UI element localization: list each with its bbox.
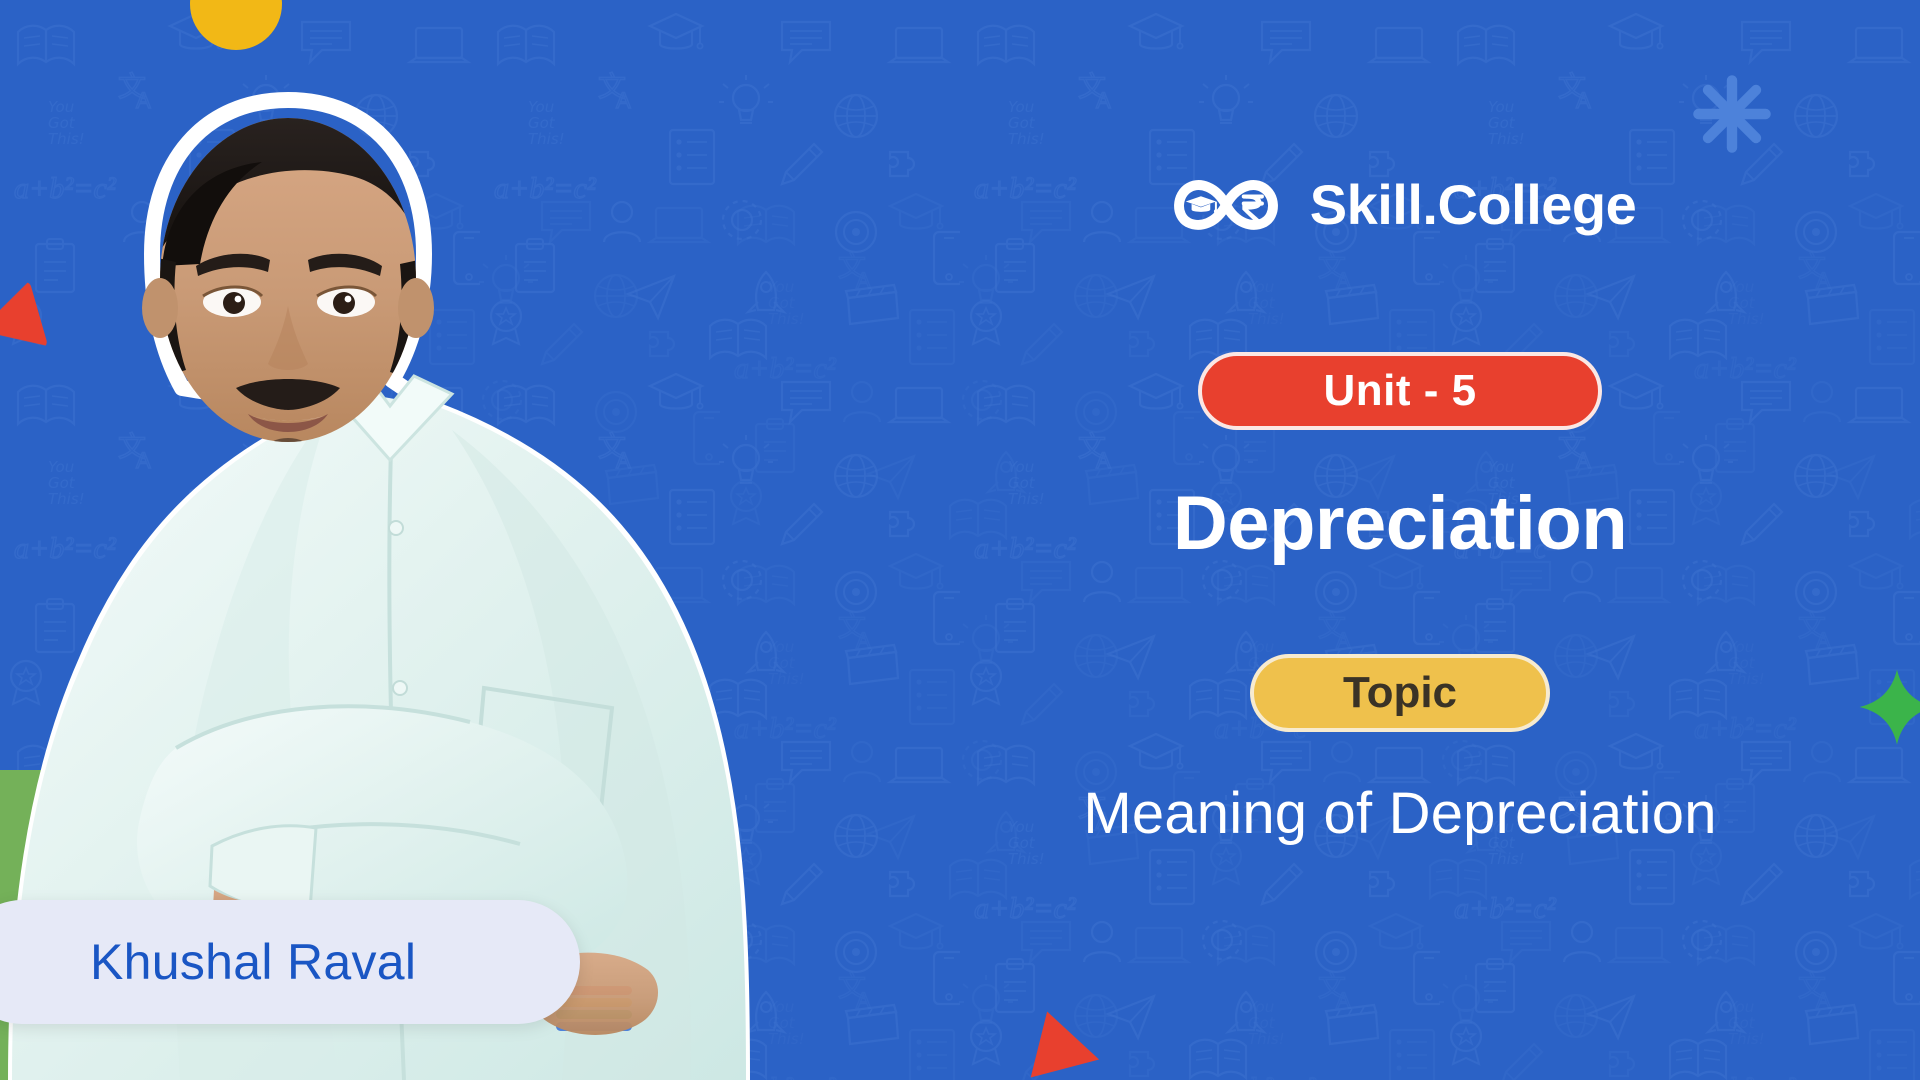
slide-content-column: Skill.College Unit - 5 Depreciation Topi… — [880, 0, 1920, 1080]
brand-name: Skill.College — [1310, 177, 1637, 233]
yellow-circle-decoration — [190, 0, 282, 50]
slide-canvas: a+b²=c² 文 A You Got This! — [0, 0, 1920, 1080]
unit-badge: Unit - 5 — [1198, 352, 1602, 430]
topic-title: Meaning of Depreciation — [1083, 782, 1716, 846]
infinity-graduation-rupee-icon — [1164, 170, 1288, 240]
topic-badge: Topic — [1250, 654, 1550, 732]
presenter-name: Khushal Raval — [90, 933, 416, 991]
presenter-name-plate: Khushal Raval — [0, 900, 580, 1024]
brand-lockup: Skill.College — [1164, 168, 1637, 242]
unit-title: Depreciation — [1173, 484, 1627, 564]
